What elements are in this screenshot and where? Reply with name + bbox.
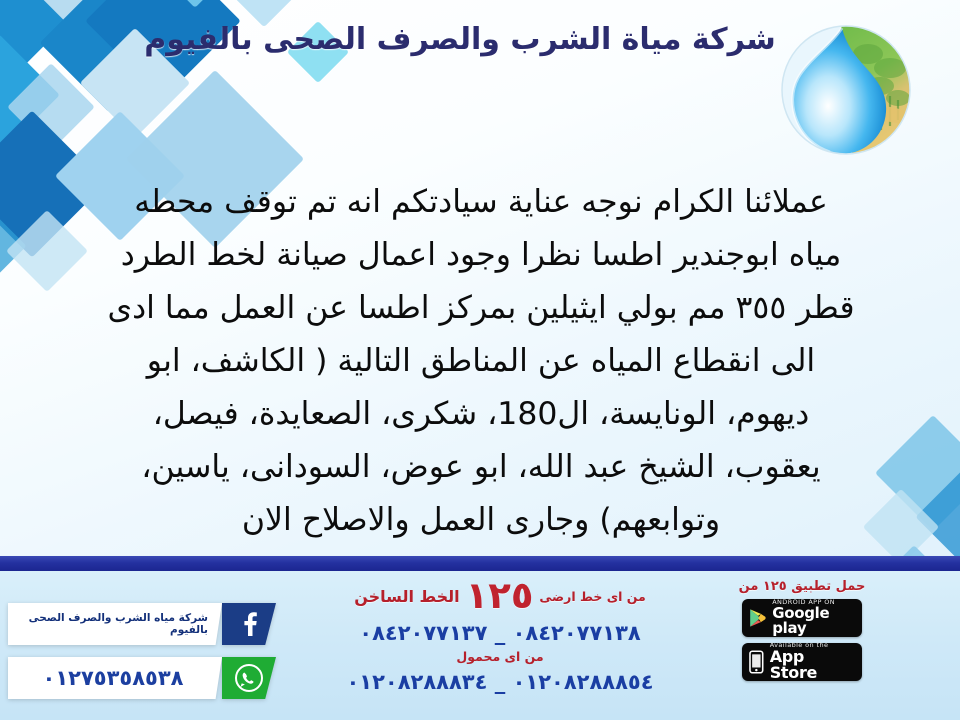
whatsapp-icon (222, 657, 276, 699)
app-download-caption: حمل تطبيق ١٢٥ من (712, 579, 892, 594)
hotline-headline: من اى خط ارضى ١٢٥ الخط الساخن (300, 577, 700, 615)
landline-numbers[interactable]: ٠٨٤٢٠٧٧١٣٨ _ ٠٨٤٢٠٧٧١٣٧ (300, 621, 700, 645)
hotline-sub-label: من اى خط ارضى (539, 589, 645, 604)
poster-footer: شركة مياه الشرب والصرف الصحى بالفيوم ٠١٢… (0, 571, 960, 720)
apple-phone-icon (749, 650, 764, 674)
facebook-page-name: شركة مياه الشرب والصرف الصحى بالفيوم (8, 603, 222, 645)
hotline-block: من اى خط ارضى ١٢٥ الخط الساخن ٠٨٤٢٠٧٧١٣٨… (300, 577, 700, 694)
google-play-big-label: Google play (772, 606, 855, 638)
facebook-icon (222, 603, 276, 645)
section-divider (0, 556, 960, 571)
mobile-label: من اى محمول (300, 649, 700, 664)
poster-header: شركة مياة الشرب والصرف الصحى بالفيوم (0, 0, 960, 168)
google-play-badge[interactable]: ANDROID APP ON Google play (742, 599, 862, 637)
facebook-glyph (238, 611, 260, 637)
app-store-big-label: App Store (770, 649, 855, 683)
app-store-text: Available on the App Store (770, 642, 855, 682)
announcement-body: عملائنا الكرام نوجه عناية سيادتكم انه تم… (50, 176, 912, 547)
google-play-text: ANDROID APP ON Google play (772, 599, 855, 637)
google-play-icon (749, 607, 766, 629)
app-download-block: حمل تطبيق ١٢٥ من ANDROID APP ON Google p… (712, 579, 892, 687)
facebook-contact[interactable]: شركة مياه الشرب والصرف الصحى بالفيوم (8, 603, 276, 645)
mobile-numbers[interactable]: ٠١٢٠٨٢٨٨٨٥٤ _ ٠١٢٠٨٢٨٨٨٣٤ (300, 670, 700, 694)
announcement-poster: شركة مياة الشرب والصرف الصحى بالفيوم (0, 0, 960, 720)
hotline-label: الخط الساخن (354, 587, 459, 606)
hotline-number[interactable]: ١٢٥ (466, 577, 534, 615)
whatsapp-contact[interactable]: ٠١٢٧٥٣٥٨٥٣٨ (8, 657, 276, 699)
app-store-badge[interactable]: Available on the App Store (742, 643, 862, 681)
whatsapp-number: ٠١٢٧٥٣٥٨٥٣٨ (8, 657, 222, 699)
whatsapp-glyph (235, 664, 263, 692)
water-globe-logo-icon (772, 16, 920, 164)
water-globe-logo (772, 16, 920, 164)
